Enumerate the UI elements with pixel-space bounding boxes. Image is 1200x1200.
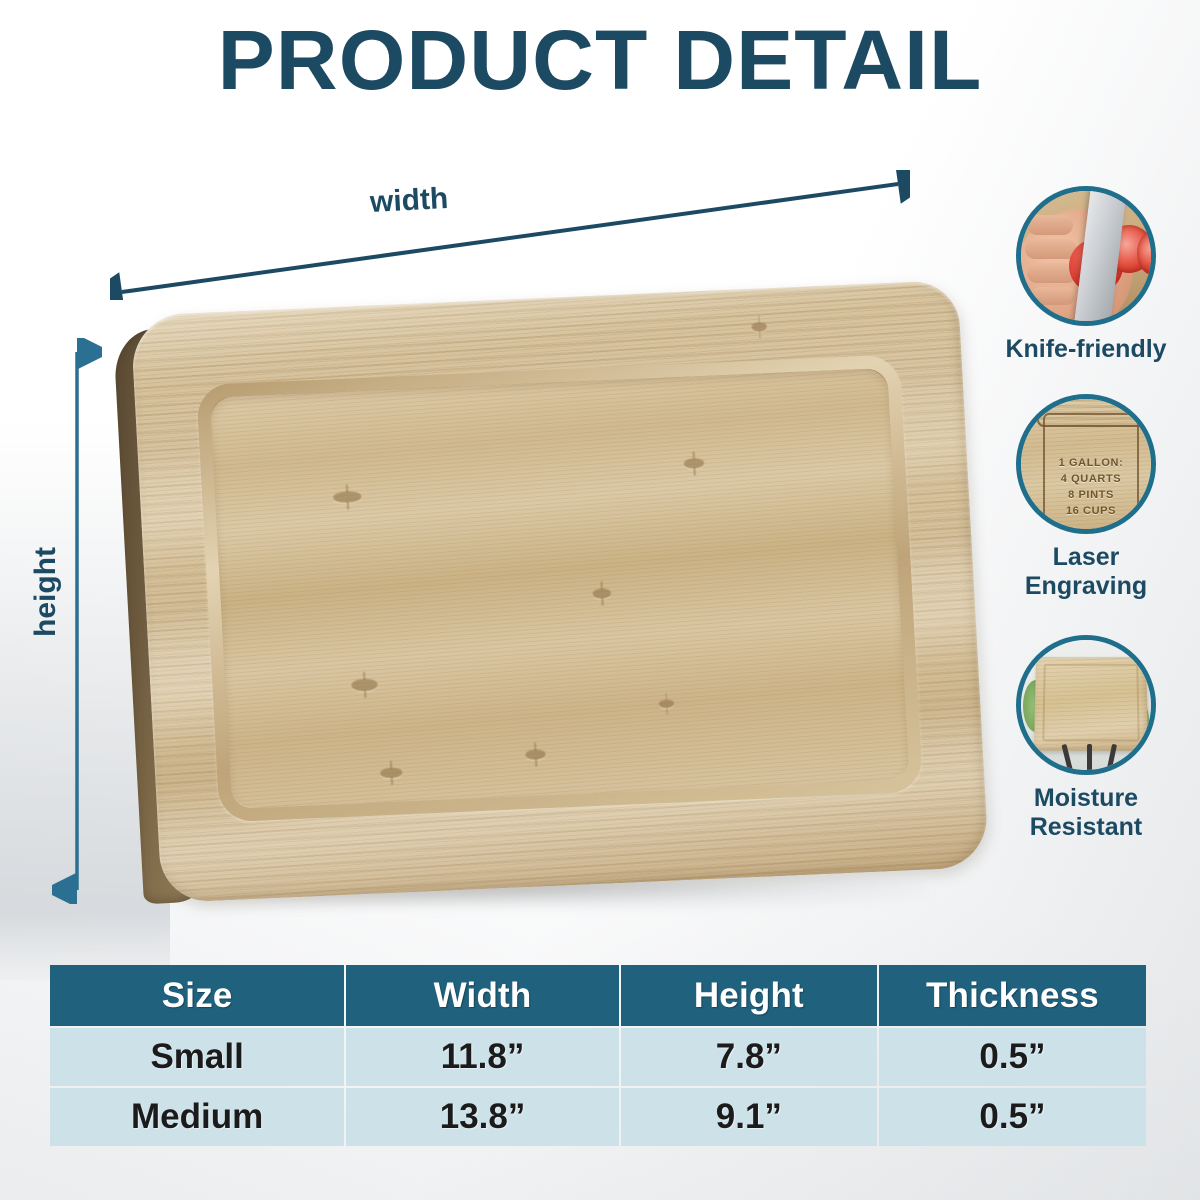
bamboo-node-fleck xyxy=(593,588,612,599)
bamboo-node-fleck xyxy=(351,678,378,691)
engraved-mason-jar-icon: 1 GALLON: 4 QUARTS 8 PINTS 16 CUPS xyxy=(1016,394,1156,534)
feature-label: Moisture Resistant xyxy=(980,784,1192,842)
width-label: width xyxy=(369,182,449,220)
bamboo-node-fleck xyxy=(380,767,403,778)
table-header-row: Size Width Height Thickness xyxy=(50,965,1146,1026)
table-row: Medium 13.8” 9.1” 0.5” xyxy=(50,1088,1146,1146)
board-wrapper xyxy=(88,157,1008,963)
cell-width: 13.8” xyxy=(346,1088,619,1146)
cell-height: 7.8” xyxy=(621,1028,877,1086)
bamboo-node-fleck xyxy=(659,700,674,709)
cell-width: 11.8” xyxy=(346,1028,619,1086)
column-header-thickness: Thickness xyxy=(879,965,1146,1026)
product-image-cutting-board xyxy=(108,180,988,940)
feature-label: Knife-friendly xyxy=(980,335,1192,364)
bamboo-node-fleck xyxy=(684,458,705,469)
feature-label-line-2: Engraving xyxy=(1025,572,1147,600)
engraving-line-2: 4 QUARTS xyxy=(1021,473,1156,485)
board-on-stand-icon xyxy=(1016,635,1156,775)
spec-table-wrapper: Size Width Height Thickness Small 11.8” … xyxy=(48,963,1148,1148)
feature-laser-engraving[interactable]: 1 GALLON: 4 QUARTS 8 PINTS 16 CUPS Laser… xyxy=(980,394,1192,601)
feature-moisture-resistant[interactable]: Moisture Resistant xyxy=(980,635,1192,842)
table-row: Small 11.8” 7.8” 0.5” xyxy=(50,1028,1146,1086)
cell-size: Small xyxy=(50,1028,344,1086)
cell-size: Medium xyxy=(50,1088,344,1146)
spec-table: Size Width Height Thickness Small 11.8” … xyxy=(48,963,1148,1148)
cell-thickness: 0.5” xyxy=(879,1088,1146,1146)
column-header-size: Size xyxy=(50,965,344,1026)
page-title: PRODUCT DETAIL xyxy=(0,14,1200,106)
feature-label-line-1: Laser xyxy=(1053,543,1120,571)
feature-list: Knife-friendly 1 GALLON: 4 QUARTS 8 PINT… xyxy=(980,186,1192,850)
board-face xyxy=(130,280,989,903)
column-header-width: Width xyxy=(346,965,619,1026)
board-cutting-surface xyxy=(210,368,910,809)
bamboo-node-fleck xyxy=(333,491,362,503)
engraving-line-3: 8 PINTS xyxy=(1021,489,1156,501)
cell-thickness: 0.5” xyxy=(879,1028,1146,1086)
juice-groove xyxy=(196,354,923,822)
feature-label-line-1: Moisture xyxy=(1034,784,1138,812)
bamboo-node-fleck xyxy=(525,749,546,760)
feature-label-line-2: Resistant xyxy=(1030,813,1143,841)
engraving-line-4: 16 CUPS xyxy=(1021,505,1156,517)
knife-cutting-tomato-icon xyxy=(1016,186,1156,326)
column-header-height: Height xyxy=(621,965,877,1026)
feature-label: Laser Engraving xyxy=(980,543,1192,601)
engraving-line-1: 1 GALLON: xyxy=(1021,457,1156,469)
feature-knife-friendly[interactable]: Knife-friendly xyxy=(980,186,1192,364)
cell-height: 9.1” xyxy=(621,1088,877,1146)
height-label: height xyxy=(29,522,63,662)
